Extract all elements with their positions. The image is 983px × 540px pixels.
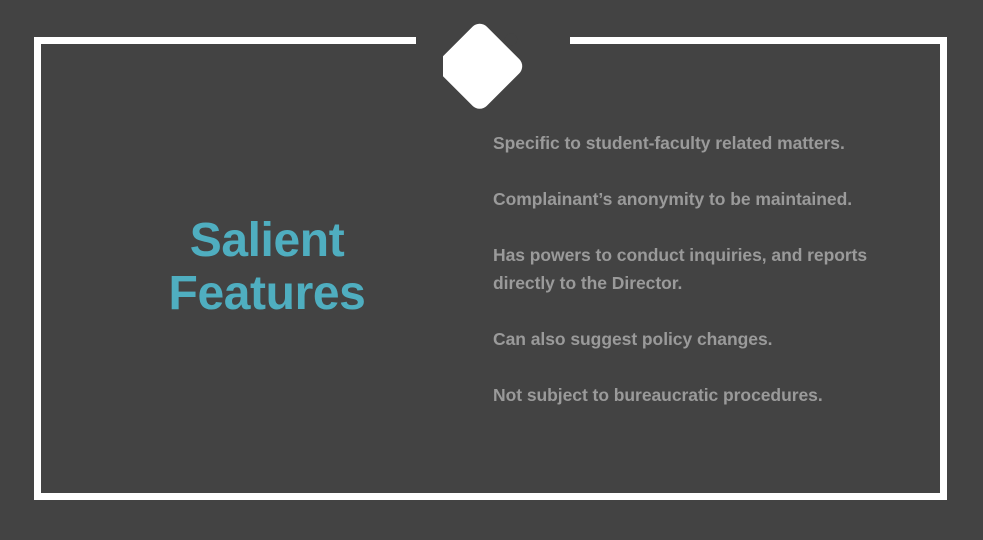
list-item: Not subject to bureaucratic procedures. (493, 381, 893, 409)
frame-border-top-right (570, 37, 947, 44)
page-title-line-1: Salient (190, 214, 345, 267)
bullet-list: Specific to student-faculty related matt… (493, 129, 940, 409)
list-item: Can also suggest policy changes. (493, 325, 893, 353)
page-title: Salient Features (41, 214, 493, 324)
frame-border-right (940, 37, 947, 500)
frame-border-top-left (34, 37, 416, 44)
slide-content: Salient Features Specific to student-fac… (41, 44, 940, 493)
page-title-line-2: Features (169, 267, 366, 320)
list-item: Specific to student-faculty related matt… (493, 129, 893, 157)
frame-border-left (34, 37, 41, 500)
list-item: Has powers to conduct inquiries, and rep… (493, 241, 893, 297)
slide-canvas: Salient Features Specific to student-fac… (0, 0, 983, 540)
list-item: Complainant’s anonymity to be maintained… (493, 185, 893, 213)
frame-border-bottom (34, 493, 947, 500)
